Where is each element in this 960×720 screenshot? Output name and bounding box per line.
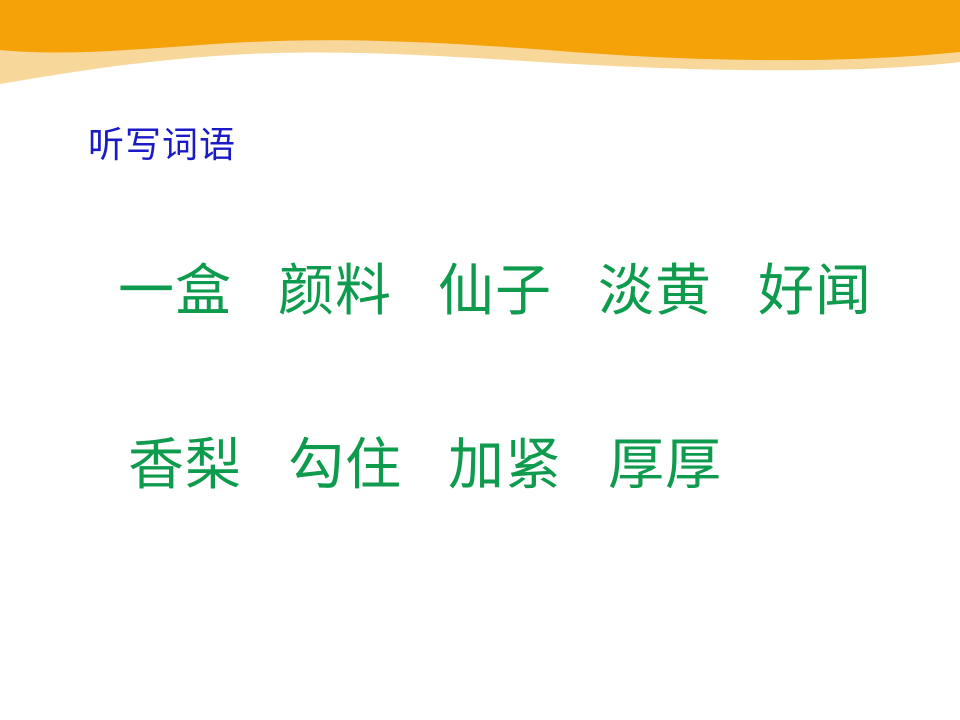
vocab-word: 淡黄 xyxy=(598,255,712,327)
vocab-word: 勾住 xyxy=(288,429,402,501)
vocab-word: 一盒 xyxy=(118,255,232,327)
vocab-word: 仙子 xyxy=(438,255,552,327)
vocab-word: 颜料 xyxy=(278,255,392,327)
vocab-word: 香梨 xyxy=(128,429,242,501)
vocab-word: 加紧 xyxy=(448,429,562,501)
dictation-word-list: 一盒 颜料 仙子 淡黄 好闻 香梨 勾住 加紧 厚厚 xyxy=(0,255,960,501)
slide-canvas: 听写词语 一盒 颜料 仙子 淡黄 好闻 香梨 勾住 加紧 厚厚 xyxy=(0,0,960,720)
page-title: 听写词语 xyxy=(88,122,236,168)
wave-accent-shape xyxy=(0,0,960,84)
wave-main-shape xyxy=(0,0,960,60)
word-row: 一盒 颜料 仙子 淡黄 好闻 xyxy=(0,255,960,327)
orange-wave-header xyxy=(0,0,960,100)
word-row: 香梨 勾住 加紧 厚厚 xyxy=(0,429,960,501)
vocab-word: 厚厚 xyxy=(608,429,722,501)
vocab-word: 好闻 xyxy=(758,255,872,327)
